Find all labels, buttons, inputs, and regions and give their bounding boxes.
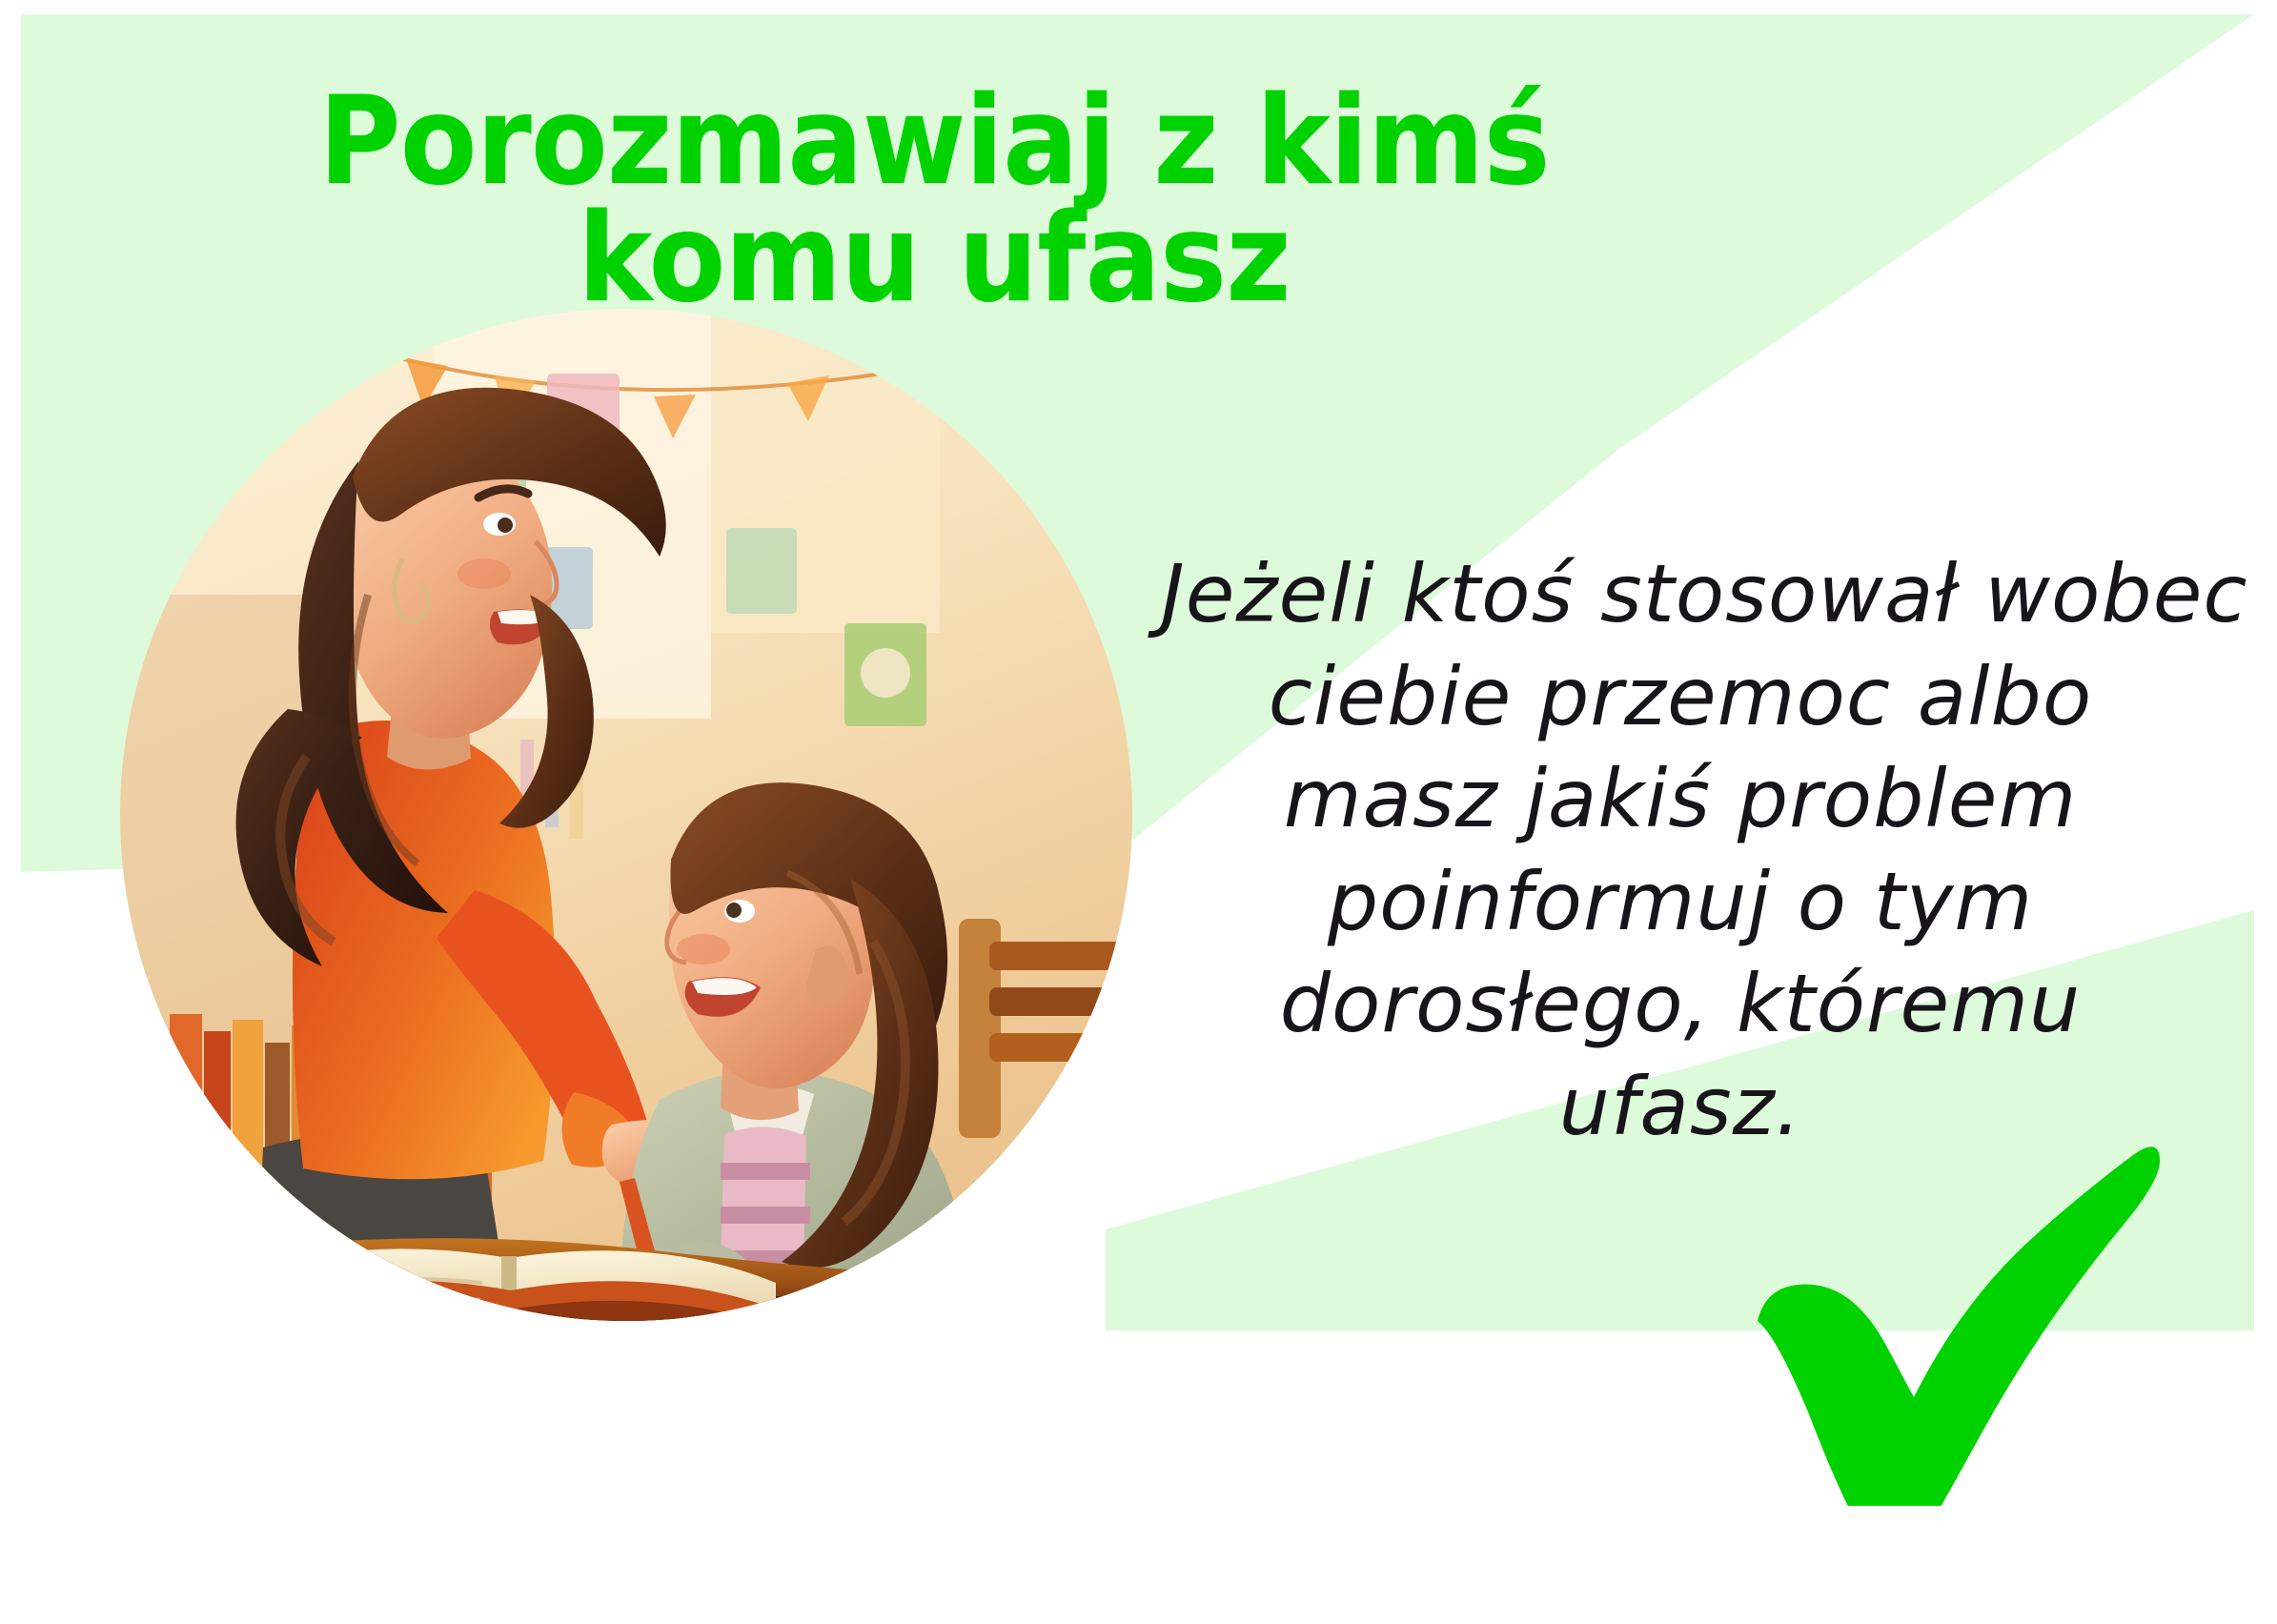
wall-artwork-mint (726, 528, 797, 614)
girl-shirt-stripe (721, 1207, 810, 1224)
illustration-canvas (120, 309, 1132, 1321)
page-title: Porozmawiaj z kimś komu ufasz (219, 84, 1649, 318)
body-line-2: ciebie przemoc albo (1161, 646, 2200, 749)
girl-pupil (726, 903, 742, 918)
body-line-4: poinformuj o tym (1161, 851, 2200, 954)
title-line-1: Porozmawiaj z kimś (276, 84, 1592, 201)
body-line-1: Jeżeli ktoś stosował wobec (1161, 543, 2200, 646)
girl-shirt-stripe (721, 1163, 810, 1180)
teacher-and-student-illustration (120, 309, 1132, 1321)
teacher-blush (457, 558, 511, 589)
poster-root: Porozmawiaj z kimś komu ufasz (0, 0, 2277, 1624)
check-icon (1752, 1125, 2162, 1506)
wall-artwork-face (861, 648, 910, 698)
body-line-5: dorosłego, któremu (1161, 953, 2200, 1056)
body-line-3: masz jakiś problem (1161, 748, 2200, 851)
body-text: Jeżeli ktoś stosował wobec ciebie przemo… (1161, 543, 2200, 1158)
girl-blush (677, 934, 730, 964)
teacher-pupil (498, 518, 513, 533)
title-line-2: komu ufasz (276, 201, 1592, 318)
check-icon-stroke (1758, 1147, 2160, 1506)
